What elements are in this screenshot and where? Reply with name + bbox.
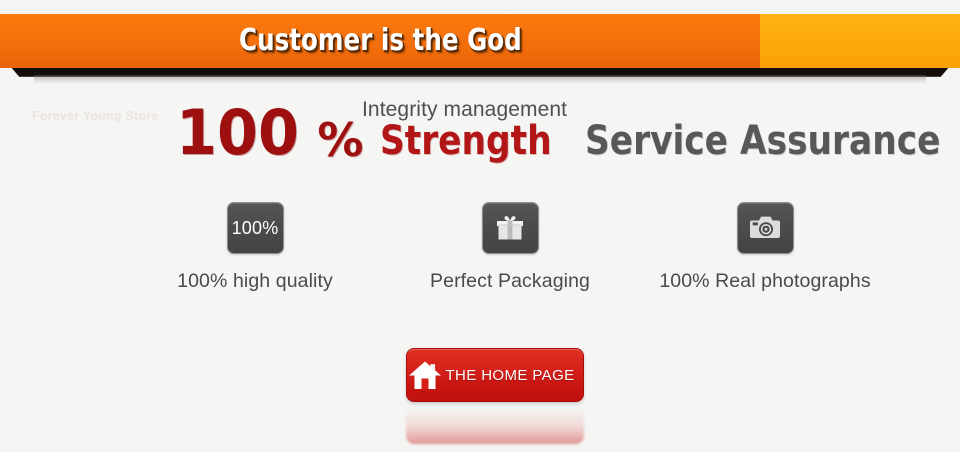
feature-label-real-photographs: 100% Real photographs (659, 270, 870, 293)
feature-label-high-quality: 100% high quality (177, 270, 333, 293)
headline-service-assurance: Service Assurance (585, 121, 940, 161)
home-button-area: THE HOME PAGE (0, 348, 960, 448)
feature-item-real-photographs: 100% Real photographs (640, 202, 890, 293)
percent-badge-icon-text: 100% (232, 218, 279, 239)
banner-left-segment: Customer is the God (0, 14, 760, 68)
banner-bar: Customer is the God (0, 14, 960, 68)
header-banner: Customer is the God (0, 14, 960, 76)
home-button-content: THE HOME PAGE (407, 358, 574, 392)
percent-badge-icon: 100% (227, 202, 284, 254)
home-icon (407, 358, 443, 392)
feature-item-high-quality: 100% 100% high quality (130, 202, 380, 293)
home-button-label: THE HOME PAGE (445, 367, 574, 384)
gift-box-icon (482, 202, 539, 254)
headline-percent-number: 100 (176, 102, 299, 164)
home-page-button[interactable]: THE HOME PAGE (406, 348, 584, 402)
home-button-reflection (406, 404, 584, 444)
gift-box-icon-glyph (495, 213, 525, 243)
camera-icon (737, 202, 794, 254)
headline-main-row: 100 % Strength Service Assurance ! (176, 102, 960, 164)
camera-icon-glyph (748, 214, 782, 242)
feature-item-packaging: Perfect Packaging (385, 202, 635, 293)
banner-right-segment (760, 14, 960, 68)
feature-list: 100% 100% high quality Perfect Packaging (130, 202, 890, 302)
banner-title: Customer is the God (239, 23, 522, 58)
headline-block: Integrity management 100 % Strength Serv… (176, 92, 876, 174)
store-watermark: Forever Young Store (32, 109, 158, 123)
headline-strength: Strength (380, 121, 552, 161)
feature-label-packaging: Perfect Packaging (430, 270, 590, 293)
headline-percent-symbol: % (317, 117, 363, 163)
banner-soft-shadow (34, 75, 926, 84)
